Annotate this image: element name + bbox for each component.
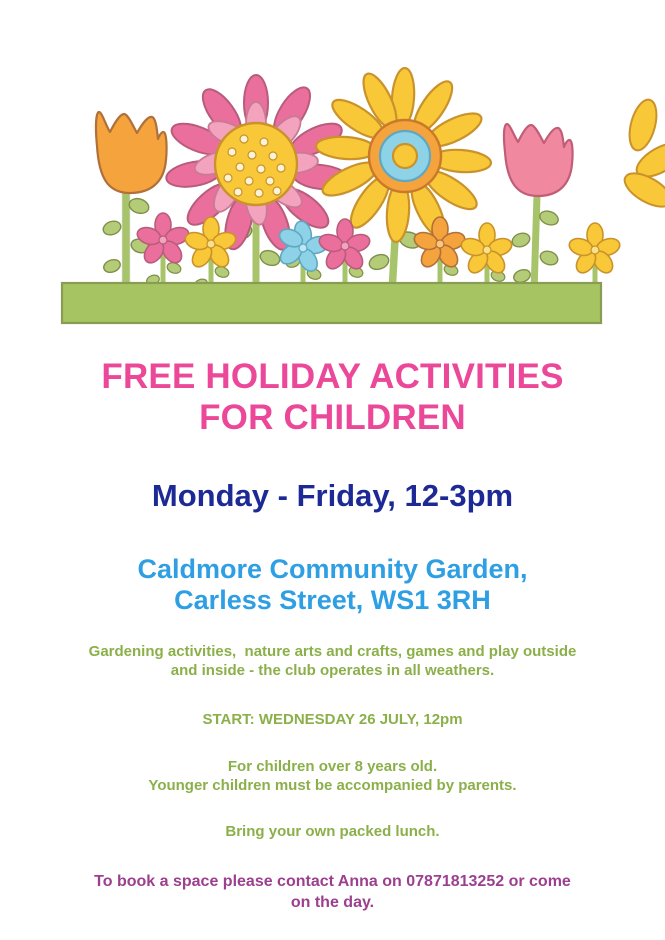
edge-yellow-bloom [619,97,665,214]
poster-text-block: FREE HOLIDAY ACTIVITIES FOR CHILDREN Mon… [0,335,665,913]
venue-address: Caldmore Community Garden, Carless Stree… [0,514,665,616]
headline-line-2: FOR CHILDREN [199,398,466,437]
flower-garden-illustration [0,0,665,335]
schedule-time: Monday - Friday, 12-3pm [0,438,665,514]
venue-line-1: Caldmore Community Garden, [137,554,527,584]
packed-lunch-note: Bring your own packed lunch. [0,795,665,841]
yellow-daisy [315,67,491,242]
activities-description: Gardening activities, nature arts and cr… [0,616,665,680]
booking-contact-info: To book a space please contact Anna on 0… [0,841,665,913]
poster: FREE HOLIDAY ACTIVITIES FOR CHILDREN Mon… [0,0,665,940]
venue-line-2: Carless Street, WS1 3RH [174,585,491,615]
headline-line-1: FREE HOLIDAY ACTIVITIES [101,357,563,396]
orange-tulip [96,112,167,193]
age-requirement-note: For children over 8 years old. Younger c… [0,729,665,795]
start-date: START: WEDNESDAY 26 JULY, 12pm [0,680,665,729]
page-title: FREE HOLIDAY ACTIVITIES FOR CHILDREN [0,335,665,438]
pink-tulip [504,124,573,196]
ground-bar [62,283,601,323]
